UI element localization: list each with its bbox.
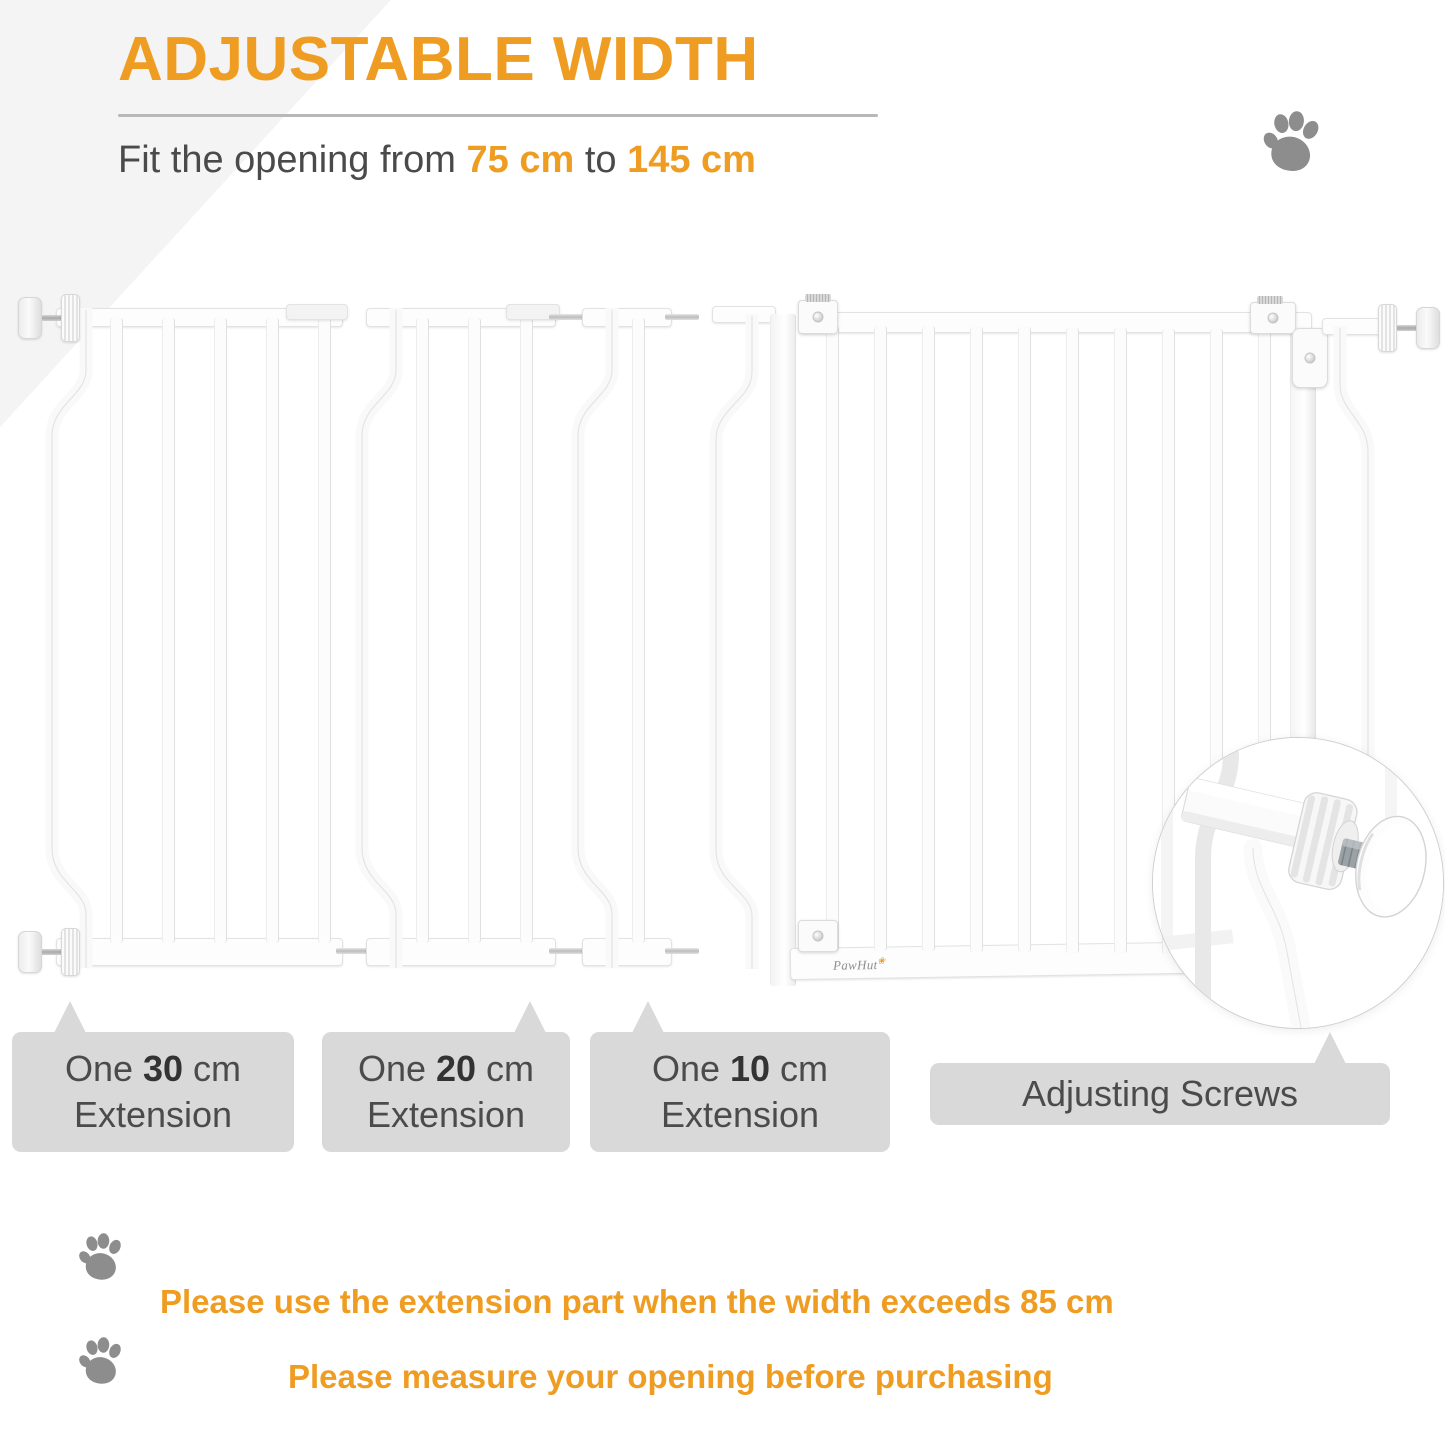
callout-line1-suffix: cm xyxy=(476,1048,534,1089)
bracket-screw-boss xyxy=(1268,313,1279,324)
callout-text: One 10 cm Extension xyxy=(652,1046,828,1138)
screw-knob[interactable] xyxy=(1378,304,1397,352)
subtitle-min-value: 75 cm xyxy=(467,139,575,181)
connector-pin xyxy=(665,314,699,320)
gate-bar xyxy=(266,318,279,943)
screw-rod xyxy=(42,315,61,321)
page-title: ADJUSTABLE WIDTH xyxy=(118,28,898,92)
gate-bar xyxy=(468,318,481,943)
bracket-screw-boss xyxy=(813,931,824,942)
subtitle-prefix: Fit the opening from xyxy=(118,139,467,181)
callout-line1-prefix: One xyxy=(65,1048,143,1089)
title-divider xyxy=(118,114,878,117)
rail-sleeve xyxy=(286,304,348,320)
callout-line1-prefix: One xyxy=(652,1048,730,1089)
gate-bar xyxy=(214,318,227,943)
header-block: ADJUSTABLE WIDTH Fit the opening from 75… xyxy=(118,28,898,182)
side-stile xyxy=(562,308,620,968)
subtitle: Fit the opening from 75 cm to 145 cm xyxy=(118,139,898,182)
brand-name: PawHut xyxy=(833,957,878,973)
hinge-bracket xyxy=(1250,302,1296,334)
gate-bar xyxy=(1018,327,1031,952)
infographic-canvas: ADJUSTABLE WIDTH Fit the opening from 75… xyxy=(0,0,1445,1445)
subtitle-max-value: 145 cm xyxy=(627,139,756,181)
callout-label: Adjusting Screws xyxy=(1022,1071,1298,1117)
callout-extension-30cm: One 30 cm Extension xyxy=(12,1032,294,1152)
gate-bar xyxy=(1066,328,1079,953)
gate-bar xyxy=(318,318,331,943)
gate-bar xyxy=(922,326,935,951)
bracket-tab xyxy=(805,294,831,302)
callout-line2: Extension xyxy=(74,1094,232,1135)
bracket-screw-boss xyxy=(813,312,824,323)
subtitle-mid: to xyxy=(574,139,627,181)
callout-tail xyxy=(632,1001,664,1033)
callout-line2: Extension xyxy=(367,1094,525,1135)
screw-knob[interactable] xyxy=(61,294,80,342)
hinge-bracket xyxy=(798,300,838,334)
gate-bar xyxy=(632,318,645,943)
adjusting-screw[interactable] xyxy=(1378,304,1440,352)
hinge-bracket xyxy=(798,920,838,952)
gate-bar xyxy=(970,327,983,952)
callout-line1-number: 30 xyxy=(143,1048,183,1089)
gate-bar xyxy=(162,318,175,943)
callout-line1-suffix: cm xyxy=(183,1048,241,1089)
footer-note-1: Please use the extension part when the w… xyxy=(160,1283,1114,1321)
adjusting-screw[interactable] xyxy=(18,928,80,976)
bottom-rail xyxy=(56,938,343,966)
callout-tail xyxy=(54,1001,86,1033)
gate-bar xyxy=(1114,328,1127,953)
callout-text: One 30 cm Extension xyxy=(65,1046,241,1138)
screw-pad xyxy=(18,297,42,339)
detail-illustration xyxy=(1153,738,1443,1028)
callout-tail xyxy=(1314,1032,1346,1064)
gate-bar xyxy=(874,326,887,951)
brand-logo: PawHut❀ xyxy=(833,956,886,974)
callout-adjusting-screws: Adjusting Screws xyxy=(930,1063,1390,1125)
paw-print-icon xyxy=(1255,103,1331,182)
gate-bar xyxy=(520,318,533,943)
screw-rod xyxy=(42,949,61,955)
bracket-tab xyxy=(1257,296,1283,304)
gate-bar xyxy=(826,326,839,951)
callout-extension-20cm: One 20 cm Extension xyxy=(322,1032,570,1152)
bracket-screw-boss xyxy=(1305,353,1316,364)
screw-pad xyxy=(18,931,42,973)
side-stile xyxy=(700,314,760,969)
callout-line1-number: 10 xyxy=(730,1048,770,1089)
screw-rod xyxy=(1397,325,1416,331)
adjusting-screw-detail-inset xyxy=(1152,737,1444,1029)
paw-print-icon xyxy=(74,1228,130,1288)
gate-bar xyxy=(110,318,123,943)
callout-line1-suffix: cm xyxy=(770,1048,828,1089)
callout-text: One 20 cm Extension xyxy=(358,1046,534,1138)
screw-pad xyxy=(1416,307,1440,349)
brand-paw-accent: ❀ xyxy=(877,956,885,966)
screw-knob[interactable] xyxy=(61,928,80,976)
connector-pin xyxy=(665,948,699,954)
callout-line1-prefix: One xyxy=(358,1048,436,1089)
callout-extension-10cm: One 10 cm Extension xyxy=(590,1032,890,1152)
side-stile xyxy=(346,308,404,968)
gate-bar xyxy=(416,318,429,943)
gate-left-post xyxy=(770,314,796,986)
callout-line1-number: 20 xyxy=(436,1048,476,1089)
callout-line2: Extension xyxy=(661,1094,819,1135)
adjusting-screw[interactable] xyxy=(18,294,80,342)
paw-print-icon xyxy=(74,1332,130,1392)
callout-tail xyxy=(514,1001,546,1033)
footer-note-2: Please measure your opening before purch… xyxy=(288,1358,1053,1396)
side-stile xyxy=(36,308,94,968)
